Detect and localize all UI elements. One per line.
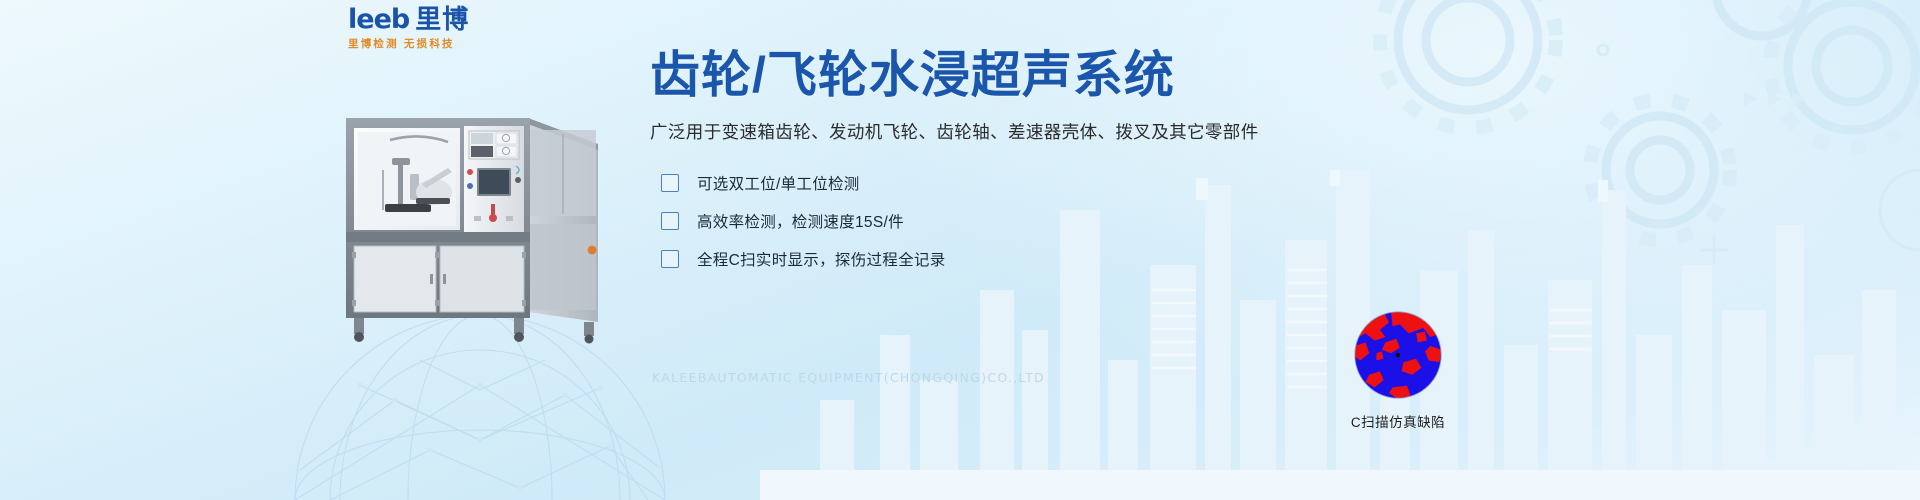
list-item: 高效率检测，检测速度15S/件 [650, 202, 1750, 240]
hero-content: 齿轮/飞轮水浸超声系统 广泛用于变速箱齿轮、发动机飞轮、齿轮轴、差速器壳体、拨叉… [650, 48, 1750, 294]
logo-wordmark-latin: leeb [348, 6, 409, 33]
brand-logo[interactable]: leeb 里博 里博检测 无损科技 [348, 6, 548, 51]
page-title: 齿轮/飞轮水浸超声系统 [650, 48, 1750, 103]
feature-label: 全程C扫实时显示，探伤过程全记录 [697, 248, 946, 270]
logo-tagline: 里博检测 无损科技 [348, 36, 548, 51]
checkbox-icon [661, 212, 679, 230]
cscan-caption: C扫描仿真缺陷 [1318, 411, 1478, 431]
logo-wordmark-chinese: 里博 [415, 6, 469, 32]
list-item: 全程C扫实时显示，探伤过程全记录 [650, 240, 1750, 278]
feature-list: 可选双工位/单工位检测 高效率检测，检测速度15S/件 全程C扫实时显示，探伤过… [650, 164, 1750, 278]
cscan-image [1353, 310, 1443, 400]
feature-label: 可选双工位/单工位检测 [697, 172, 860, 194]
feature-label: 高效率检测，检测速度15S/件 [697, 210, 904, 232]
list-item: 可选双工位/单工位检测 [650, 164, 1750, 202]
checkbox-icon [661, 174, 679, 192]
company-name: KALEEBAUTOMATIC EQUIPMENT(CHONGQING)CO.,… [652, 370, 1045, 385]
hero-banner: leeb 里博 里博检测 无损科技 [0, 0, 1920, 500]
checkbox-icon [661, 250, 679, 268]
product-photo [330, 100, 610, 350]
cscan-figure: C扫描仿真缺陷 [1318, 310, 1478, 431]
hero-subtitle: 广泛用于变速箱齿轮、发动机飞轮、齿轮轴、差速器壳体、拨叉及其它零部件 [650, 119, 1750, 144]
